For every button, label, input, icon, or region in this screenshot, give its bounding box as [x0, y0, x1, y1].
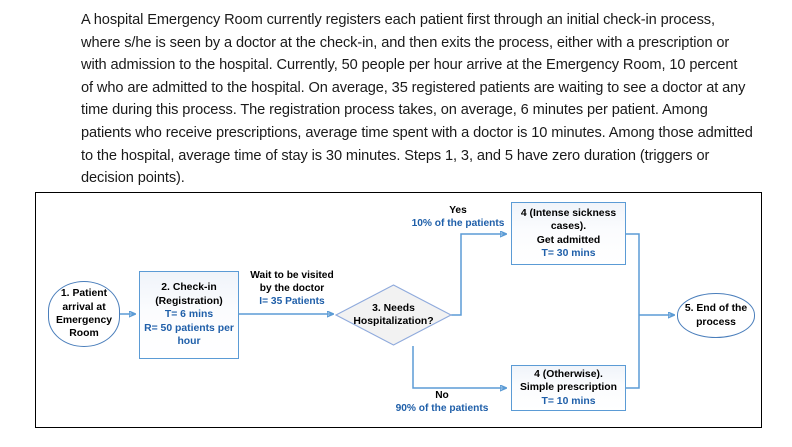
node-end-of-process[interactable]: 5. End of the process	[677, 293, 755, 338]
line: Room	[56, 327, 112, 340]
edge-prescription-to-merge	[626, 315, 639, 388]
line: I= 35 Patients	[245, 295, 339, 308]
line: No	[372, 389, 512, 402]
edge-label-yes: Yes 10% of the patients	[388, 204, 528, 230]
node-needs-hospitalization[interactable]: 3. Needs Hospitalization?	[335, 284, 452, 346]
line: 4 (Intense sickness	[521, 207, 616, 220]
line: T= 30 mins	[521, 247, 616, 260]
line: Simple prescription	[520, 381, 617, 394]
line: 5. End of the	[685, 302, 747, 315]
line: hour	[144, 335, 234, 348]
line: T= 6 mins	[144, 308, 234, 321]
line: R= 50 patients per	[144, 322, 234, 335]
line: Yes	[388, 204, 528, 217]
node-end-label: 5. End of the process	[685, 302, 747, 329]
line: Get admitted	[521, 234, 616, 247]
edge-decision-yes-to-admitted	[451, 234, 506, 315]
edge-decision-no-to-prescription	[413, 346, 506, 388]
line: 10% of the patients	[388, 217, 528, 230]
line: T= 10 mins	[520, 395, 617, 408]
process-flow-diagram: 1. Patient arrival at Emergency Room 2. …	[35, 192, 762, 428]
line: Emergency	[56, 314, 112, 327]
edge-admitted-to-merge	[626, 234, 639, 315]
line: 2. Check-in	[144, 281, 234, 294]
line: process	[685, 316, 747, 329]
line: 1. Patient	[56, 287, 112, 300]
line: 4 (Otherwise).	[520, 368, 617, 381]
line: (Registration)	[144, 295, 234, 308]
node-get-admitted[interactable]: 4 (Intense sickness cases). Get admitted…	[511, 202, 626, 265]
diamond-shape	[335, 284, 452, 346]
node-patient-arrival[interactable]: 1. Patient arrival at Emergency Room	[48, 281, 120, 347]
line: by the doctor	[245, 282, 339, 295]
problem-statement-paragraph: A hospital Emergency Room currently regi…	[81, 9, 753, 190]
line: Wait to be visited	[245, 269, 339, 282]
node-checkin-label: 2. Check-in (Registration) T= 6 mins R= …	[144, 281, 234, 348]
edge-label-no: No 90% of the patients	[372, 389, 512, 415]
node-checkin-registration[interactable]: 2. Check-in (Registration) T= 6 mins R= …	[139, 271, 239, 359]
line: 90% of the patients	[372, 402, 512, 415]
node-prescription-label: 4 (Otherwise). Simple prescription T= 10…	[520, 368, 617, 408]
node-simple-prescription[interactable]: 4 (Otherwise). Simple prescription T= 10…	[511, 365, 626, 411]
edge-label-wait: Wait to be visited by the doctor I= 35 P…	[245, 269, 339, 309]
line: arrival at	[56, 301, 112, 314]
node-admitted-label: 4 (Intense sickness cases). Get admitted…	[521, 207, 616, 261]
node-patient-arrival-label: 1. Patient arrival at Emergency Room	[56, 287, 112, 341]
line: cases).	[521, 220, 616, 233]
